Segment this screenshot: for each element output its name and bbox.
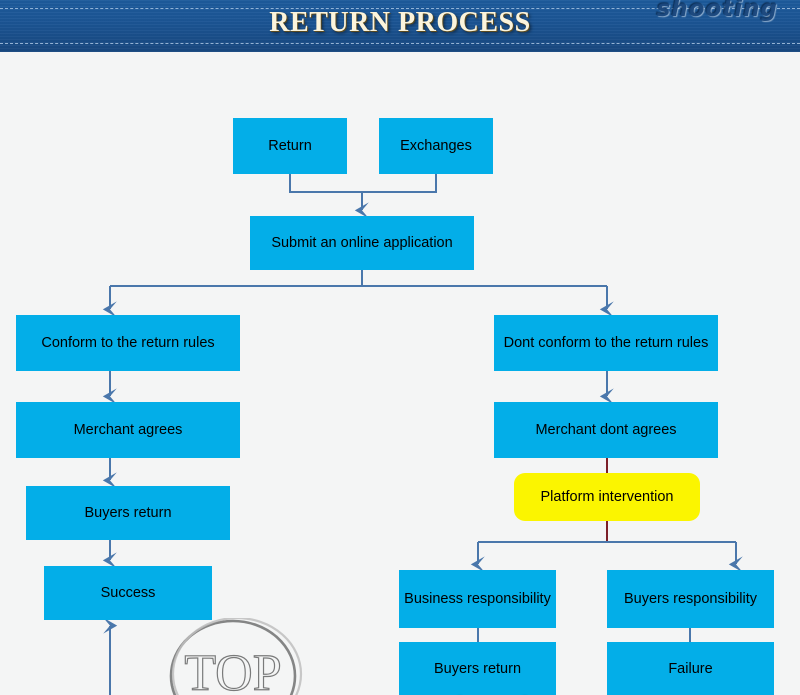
node-exchanges-label: Exchanges [400,137,472,155]
node-dont-conform-to-return-rules[interactable]: Dont conform to the return rules [494,315,718,371]
node-merchant-agrees[interactable]: Merchant agrees [16,402,240,458]
node-buyers-responsibility[interactable]: Buyers responsibility [607,570,774,628]
node-submit-label: Submit an online application [271,234,452,252]
node-return-label: Return [268,137,312,155]
node-buyers-return-left[interactable]: Buyers return [26,486,230,540]
edge-exchanges-to-submit [362,174,436,192]
node-exchanges[interactable]: Exchanges [379,118,493,174]
node-buyers-return-left-label: Buyers return [84,504,171,522]
node-business-responsibility-label: Business responsibility [404,590,551,608]
edge-return-to-submit [290,174,362,192]
node-platform-intervention[interactable]: Platform intervention [514,473,700,521]
header-watermark-text: shooting [657,0,778,22]
node-business-responsibility[interactable]: Business responsibility [399,570,556,628]
node-buyers-return-right[interactable]: Buyers return [399,642,556,695]
node-merchant-dont-agrees-label: Merchant dont agrees [535,421,676,439]
node-merchant-dont-agrees[interactable]: Merchant dont agrees [494,402,718,458]
node-submit-online-application[interactable]: Submit an online application [250,216,474,270]
node-buyers-return-right-label: Buyers return [434,660,521,678]
node-success[interactable]: Success [44,566,212,620]
node-return[interactable]: Return [233,118,347,174]
flowchart-screenshot: RETURN PROCESS shooting [0,0,800,695]
node-platform-intervention-label: Platform intervention [541,488,674,506]
node-success-label: Success [101,584,156,602]
flowchart-canvas: Return Exchanges Submit an online applic… [0,52,800,695]
node-conform-to-return-rules[interactable]: Conform to the return rules [16,315,240,371]
node-failure-label: Failure [668,660,712,678]
node-merchant-agrees-label: Merchant agrees [74,421,183,439]
node-failure[interactable]: Failure [607,642,774,695]
node-conform-label: Conform to the return rules [41,334,214,352]
header-banner: RETURN PROCESS shooting [0,0,800,52]
node-buyers-responsibility-label: Buyers responsibility [624,590,757,608]
node-dont-conform-label: Dont conform to the return rules [504,334,709,352]
